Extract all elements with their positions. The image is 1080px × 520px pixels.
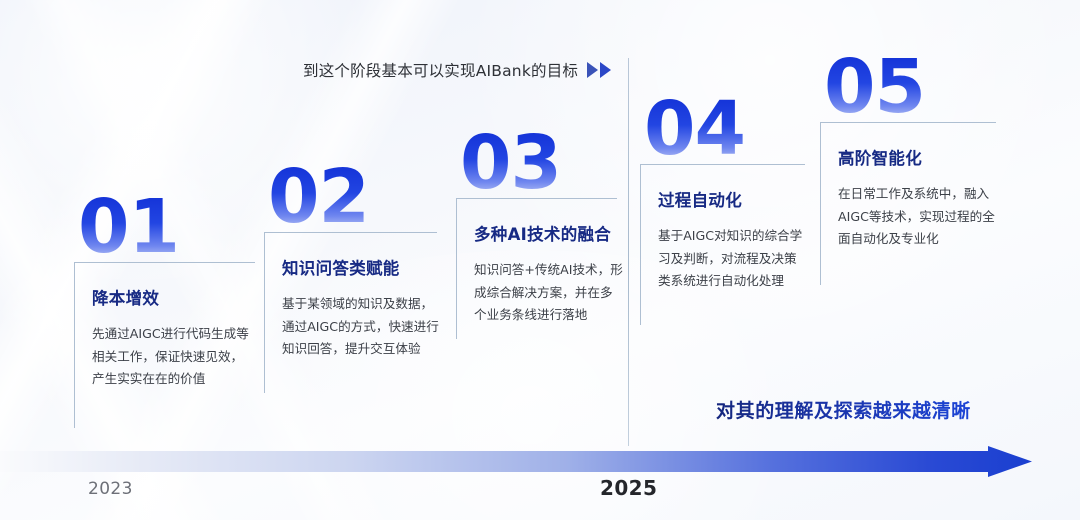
play-triangle-icon xyxy=(587,62,598,78)
timeline-year-end: 2025 xyxy=(600,476,657,500)
timeline-year-start: 2023 xyxy=(88,479,133,499)
stage-card-02: 02 知识问答类赋能 基于某领域的知识及数据，通过AIGC的方式，快速进行知识回… xyxy=(264,166,437,393)
infographic-canvas: 到这个阶段基本可以实现AIBank的目标 01 降本增效 先通过AIGC进行代码… xyxy=(0,0,1080,520)
stage-bracket: 过程自动化 基于AIGC对知识的综合学习及判断，对流程及决策类系统进行自动化处理 xyxy=(640,164,805,325)
stage-body: 多种AI技术的融合 知识问答+传统AI技术，形成综合解决方案，并在多个业务条线进… xyxy=(457,199,617,328)
annotation-arrows xyxy=(587,62,611,78)
stage-title: 过程自动化 xyxy=(658,187,805,211)
stage-bracket: 高阶智能化 在日常工作及系统中，融入AIGC等技术，实现过程的全面自动化及专业化 xyxy=(820,122,996,285)
stage-body: 过程自动化 基于AIGC对知识的综合学习及判断，对流程及决策类系统进行自动化处理 xyxy=(641,165,805,294)
stage-card-01: 01 降本增效 先通过AIGC进行代码生成等相关工作，保证快速见效，产生实实在在… xyxy=(74,196,255,428)
stage-title: 知识问答类赋能 xyxy=(282,255,437,279)
stage-number: 05 xyxy=(824,56,925,120)
timeline-arrow xyxy=(0,446,1080,486)
stage-number: 04 xyxy=(644,98,745,162)
stage-bracket: 知识问答类赋能 基于某领域的知识及数据，通过AIGC的方式，快速进行知识回答，提… xyxy=(264,232,437,393)
top-annotation: 到这个阶段基本可以实现AIBank的目标 xyxy=(303,59,611,81)
highlight-text: 对其的理解及探索越来越清晰 xyxy=(716,396,971,423)
stage-bracket: 多种AI技术的融合 知识问答+传统AI技术，形成综合解决方案，并在多个业务条线进… xyxy=(456,198,617,339)
stage-card-03: 03 多种AI技术的融合 知识问答+传统AI技术，形成综合解决方案，并在多个业务… xyxy=(456,132,617,339)
stage-description: 基于AIGC对知识的综合学习及判断，对流程及决策类系统进行自动化处理 xyxy=(658,225,806,294)
stage-title: 多种AI技术的融合 xyxy=(474,221,617,245)
stage-description: 知识问答+传统AI技术，形成综合解决方案，并在多个业务条线进行落地 xyxy=(474,259,624,328)
stage-description: 先通过AIGC进行代码生成等相关工作，保证快速见效，产生实实在在的价值 xyxy=(92,323,254,392)
stage-description: 基于某领域的知识及数据，通过AIGC的方式，快速进行知识回答，提升交互体验 xyxy=(282,293,440,362)
stage-bracket: 降本增效 先通过AIGC进行代码生成等相关工作，保证快速见效，产生实实在在的价值 xyxy=(74,262,255,428)
annotation-text: 到这个阶段基本可以实现AIBank的目标 xyxy=(303,59,578,81)
stage-card-05: 05 高阶智能化 在日常工作及系统中，融入AIGC等技术，实现过程的全面自动化及… xyxy=(820,56,996,285)
stage-number: 02 xyxy=(268,166,369,230)
stage-body: 降本增效 先通过AIGC进行代码生成等相关工作，保证快速见效，产生实实在在的价值 xyxy=(75,263,255,392)
stage-body: 知识问答类赋能 基于某领域的知识及数据，通过AIGC的方式，快速进行知识回答，提… xyxy=(265,233,437,362)
stage-card-04: 04 过程自动化 基于AIGC对知识的综合学习及判断，对流程及决策类系统进行自动… xyxy=(640,98,805,325)
stage-number: 01 xyxy=(78,196,179,260)
stage-title: 高阶智能化 xyxy=(838,145,996,169)
vertical-divider xyxy=(628,58,629,446)
stage-number: 03 xyxy=(460,132,561,196)
stage-body: 高阶智能化 在日常工作及系统中，融入AIGC等技术，实现过程的全面自动化及专业化 xyxy=(821,123,996,252)
stage-title: 降本增效 xyxy=(92,285,255,309)
stage-description: 在日常工作及系统中，融入AIGC等技术，实现过程的全面自动化及专业化 xyxy=(838,183,996,252)
play-triangle-icon xyxy=(600,62,611,78)
